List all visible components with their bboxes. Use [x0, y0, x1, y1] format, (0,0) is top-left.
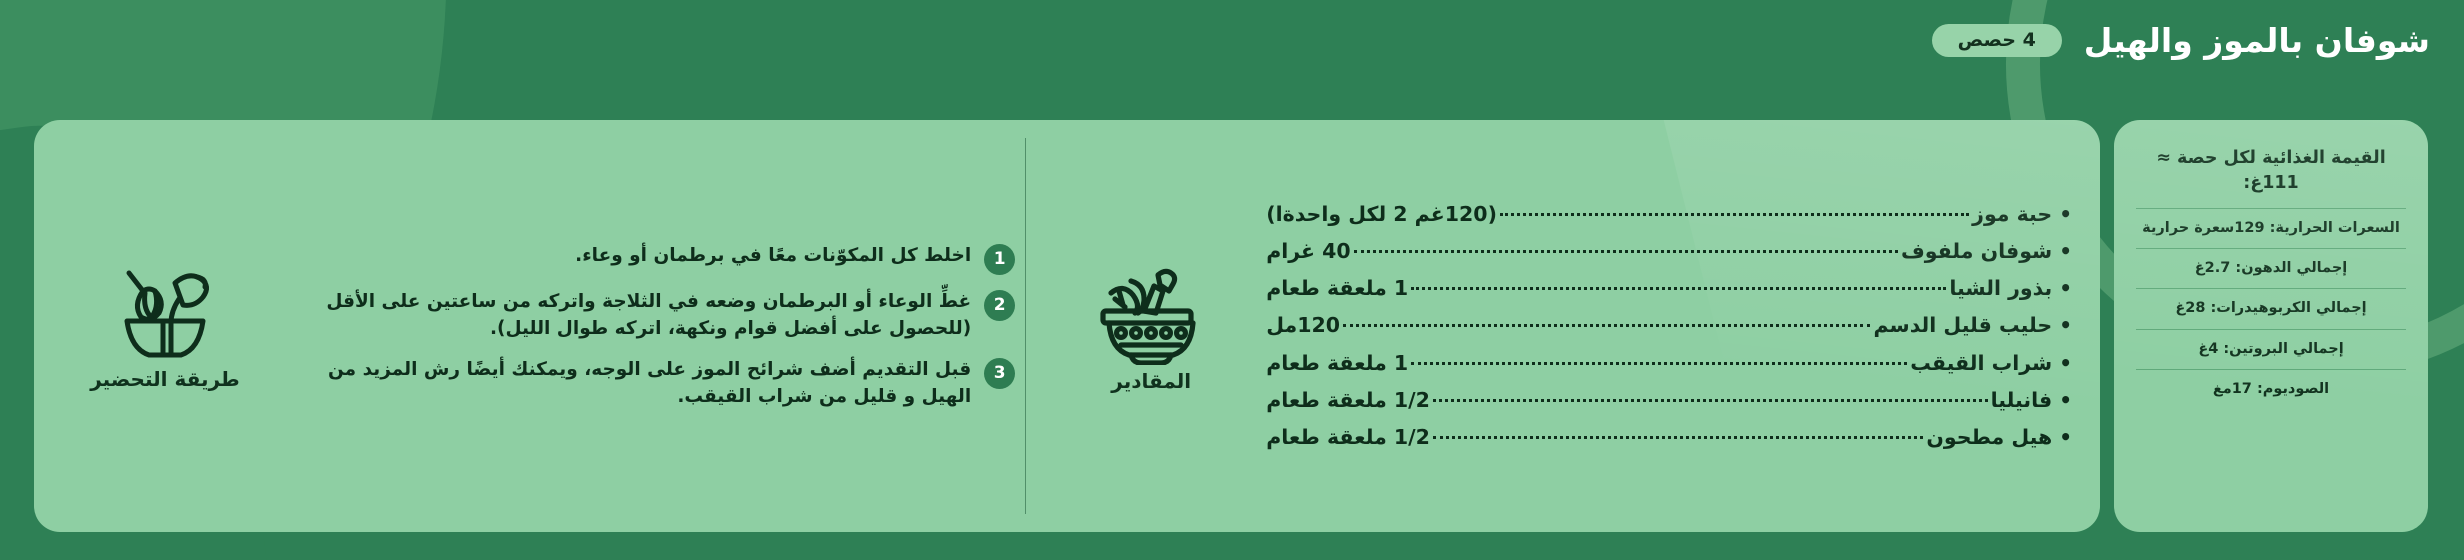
preparation-step: 3 قبل التقديم أضف شرائح الموز على الوجه،…	[292, 356, 1015, 410]
ingredient-amount: 1/2 ملعقة طعام	[1266, 421, 1430, 454]
preparation-icon-block: طريقة التحضير	[50, 263, 280, 389]
nutrition-row: إجمالي الكربوهيدرات: 28غ	[2136, 288, 2406, 328]
ingredient-item: • شراب القيقب 1 ملعقة طعام	[1266, 347, 2072, 380]
preparation-heading: طريقة التحضير	[90, 369, 240, 389]
preparation-steps-list: 1 اخلط كل المكوّنات معًا في برطمان أو وع…	[280, 242, 1015, 410]
step-number-badge: 1	[984, 244, 1015, 275]
ingredient-name: شراب القيقب	[1910, 347, 2052, 380]
dotted-leader	[1433, 384, 1988, 402]
bullet-icon: •	[2059, 390, 2072, 410]
recipe-main-card: • حبة موز (120غم 2 لكل واحدةا) • شوفان م…	[34, 120, 2100, 532]
bullet-icon: •	[2059, 315, 2072, 335]
step-number-badge: 2	[984, 290, 1015, 321]
preparation-panel: 1 اخلط كل المكوّنات معًا في برطمان أو وع…	[34, 120, 1025, 532]
step-number-badge: 3	[984, 358, 1015, 389]
step-text: غطِّ الوعاء أو البرطمان وضعه في الثلاجة …	[292, 288, 971, 342]
nutrition-row: الصوديوم: 17مغ	[2136, 369, 2406, 409]
bullet-icon: •	[2059, 278, 2072, 298]
nutrition-row: إجمالي الدهون: 2.7غ	[2136, 248, 2406, 288]
ingredient-amount: (120غم 2 لكل واحدةا)	[1266, 198, 1497, 231]
ingredient-amount: 40 غرام	[1266, 235, 1350, 268]
bullet-icon: •	[2059, 427, 2072, 447]
recipe-body: القيمة الغذائية لكل حصة ≈ 111غ: السعرات …	[34, 120, 2428, 532]
ingredient-item: • هيل مطحون 1/2 ملعقة طعام	[1266, 421, 2072, 454]
ingredient-amount: 120مل	[1266, 309, 1340, 342]
ingredient-name: فانيليا	[1991, 384, 2053, 417]
ingredients-icon-block: المقادير	[1036, 261, 1266, 391]
ingredient-amount: 1 ملعقة طعام	[1266, 347, 1408, 380]
dotted-leader	[1411, 347, 1907, 365]
ingredient-name: بذور الشيا	[1949, 272, 2052, 305]
ingredient-name: حبة موز	[1972, 198, 2052, 231]
dotted-leader	[1433, 421, 1923, 439]
panel-divider	[1025, 138, 1026, 514]
ingredients-panel: • حبة موز (120غم 2 لكل واحدةا) • شوفان م…	[1026, 120, 2100, 532]
mortar-and-pestle-icon	[1095, 261, 1207, 365]
bullet-icon: •	[2059, 353, 2072, 373]
preparation-step: 1 اخلط كل المكوّنات معًا في برطمان أو وع…	[292, 242, 1015, 275]
ingredient-name: هيل مطحون	[1926, 421, 2052, 454]
nutrition-title: القيمة الغذائية لكل حصة ≈ 111غ:	[2136, 146, 2406, 196]
servings-badge: 4 حصص	[1932, 24, 2062, 57]
dotted-leader	[1354, 235, 1898, 253]
page-title: شوفان بالموز والهيل	[2084, 24, 2430, 57]
ingredient-name: شوفان ملفوف	[1901, 235, 2052, 268]
ingredient-item: • حليب قليل الدسم 120مل	[1266, 309, 2072, 342]
nutrition-row: السعرات الحرارية: 129سعرة حرارية	[2136, 208, 2406, 248]
dotted-leader	[1343, 310, 1870, 328]
ingredient-item: • شوفان ملفوف 40 غرام	[1266, 235, 2072, 268]
ingredient-name: حليب قليل الدسم	[1873, 309, 2052, 342]
ingredients-list: • حبة موز (120غم 2 لكل واحدةا) • شوفان م…	[1266, 198, 2082, 454]
ingredient-item: • حبة موز (120غم 2 لكل واحدةا)	[1266, 198, 2072, 231]
ingredient-item: • فانيليا 1/2 ملعقة طعام	[1266, 384, 2072, 417]
ingredient-amount: 1/2 ملعقة طعام	[1266, 384, 1430, 417]
nutrition-row: إجمالي البروتين: 4غ	[2136, 329, 2406, 369]
recipe-header: شوفان بالموز والهيل 4 حصص	[34, 14, 2430, 66]
ingredient-amount: 1 ملعقة طعام	[1266, 272, 1408, 305]
step-text: اخلط كل المكوّنات معًا في برطمان أو وعاء…	[292, 242, 971, 269]
dotted-leader	[1411, 272, 1946, 290]
ingredient-item: • بذور الشيا 1 ملعقة طعام	[1266, 272, 2072, 305]
nutrition-list: السعرات الحرارية: 129سعرة حرارية إجمالي …	[2136, 208, 2406, 410]
preparation-step: 2 غطِّ الوعاء أو البرطمان وضعه في الثلاج…	[292, 288, 1015, 342]
mixing-bowl-whisk-icon	[109, 263, 221, 363]
nutrition-card: القيمة الغذائية لكل حصة ≈ 111غ: السعرات …	[2114, 120, 2428, 532]
dotted-leader	[1500, 198, 1969, 216]
bullet-icon: •	[2059, 241, 2072, 261]
bullet-icon: •	[2059, 204, 2072, 224]
ingredients-heading: المقادير	[1111, 371, 1191, 391]
step-text: قبل التقديم أضف شرائح الموز على الوجه، و…	[292, 356, 971, 410]
